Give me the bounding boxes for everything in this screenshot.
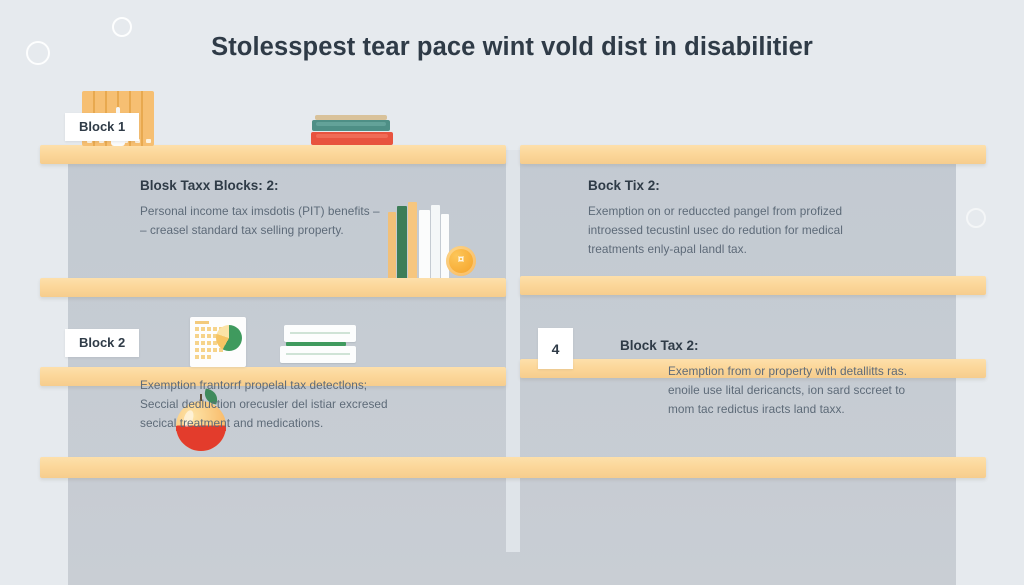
infographic-canvas: Stolesspest tear pace wint vold dist in …	[0, 0, 1024, 585]
page-title: Stolesspest tear pace wint vold dist in …	[0, 33, 1024, 62]
calendar-pie-chart-card-icon	[190, 317, 246, 367]
block-heading: Bock Tix 2:	[588, 178, 918, 193]
body-line: Exemption on or reduccted pangel from pr…	[588, 202, 918, 221]
step-badge-4: 4	[538, 328, 573, 369]
body-line: mom tac redictus iracts land taxx.	[668, 400, 920, 419]
block-body: Exemption from or property with detallit…	[620, 362, 920, 419]
body-line: Personal income tax imsdotis (PIT) benef…	[140, 202, 480, 221]
white-books-icon	[280, 325, 356, 367]
body-line: introessed tecustinl usec do redution fo…	[588, 221, 918, 240]
body-line: treatments enly-apal landl tax.	[588, 240, 918, 259]
text-block-top-left: Blosk Taxx Blocks: 2: Personal income ta…	[140, 178, 480, 240]
block-label-2: Block 2	[65, 329, 139, 357]
block-heading: Blosk Taxx Blocks: 2:	[140, 178, 480, 193]
shelf-board	[520, 276, 986, 295]
stacked-books-icon	[311, 115, 393, 146]
body-line: secical treatment and medications.	[140, 414, 480, 433]
block-heading: Block Tax 2:	[620, 338, 920, 353]
shelf-board-bottom	[40, 457, 986, 478]
block-body: Exemption on or reduccted pangel from pr…	[588, 202, 918, 259]
decorative-circle-icon	[966, 208, 986, 228]
shelf-board	[40, 145, 506, 164]
body-line: Exemption frantorrf propelal tax detectl…	[140, 376, 480, 395]
body-line: – creasel standard tax selling property.	[140, 221, 480, 240]
shelf-board	[40, 278, 506, 297]
block-body: Exemption frantorrf propelal tax detectl…	[140, 376, 480, 433]
body-line: Exemption from or property with detallit…	[668, 362, 920, 381]
text-block-bottom-right: Block Tax 2: Exemption from or property …	[620, 338, 920, 419]
block-label-1: Block 1	[65, 113, 139, 141]
text-block-bottom-left: Exemption frantorrf propelal tax detectl…	[140, 376, 480, 433]
column-divider	[506, 150, 520, 552]
body-line: Seccial dedluction orecusler del istiar …	[140, 395, 480, 414]
shelf-board	[520, 145, 986, 164]
text-block-top-right: Bock Tix 2: Exemption on or reduccted pa…	[588, 178, 918, 259]
coin-icon: ¤	[446, 246, 476, 276]
bookcase: ¤ Bloc	[68, 98, 956, 585]
body-line: enoile use lital dericancts, ion sard sc…	[668, 381, 920, 400]
block-body: Personal income tax imsdotis (PIT) benef…	[140, 202, 480, 240]
